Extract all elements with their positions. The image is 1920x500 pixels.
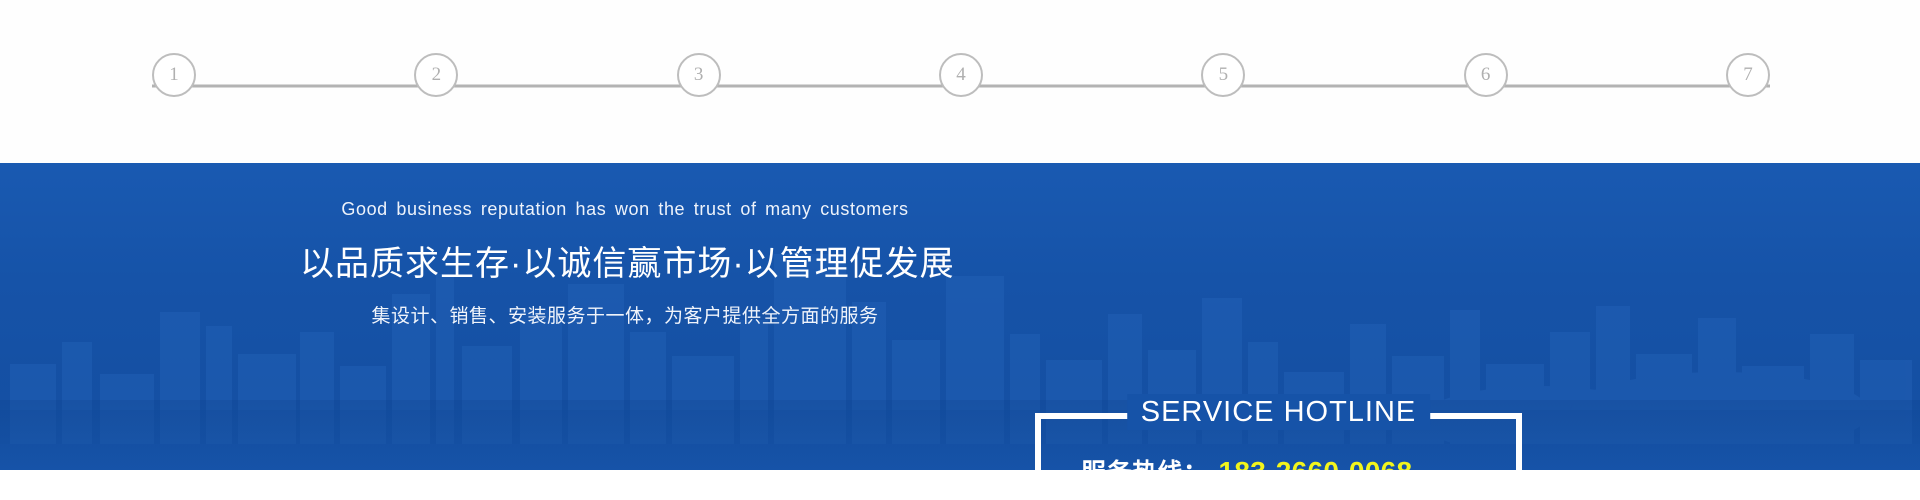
hotline-body: 服务热线： 183-2660-0068 0551-63749777	[1035, 453, 1522, 470]
banner-gradient-overlay	[0, 163, 1920, 470]
step-node-1[interactable]: 1	[152, 53, 196, 97]
step-node-label: 3	[679, 55, 719, 95]
slogan-chinese-headline: 以品质求生存·以诚信赢市场·以管理促发展	[300, 236, 950, 285]
step-node-2[interactable]: 2	[414, 53, 458, 97]
service-hotline-box: SERVICE HOTLINE 服务热线： 183-2660-0068 0551…	[1035, 413, 1522, 470]
step-node-label: 6	[1466, 55, 1506, 95]
hotline-label: 服务热线：	[1081, 453, 1209, 470]
hotline-row-primary: 服务热线： 183-2660-0068	[1081, 453, 1522, 470]
page-root: 1 2 3 4 5 6 7	[0, 0, 1920, 500]
step-node-6[interactable]: 6	[1464, 53, 1508, 97]
slogan-block: Good business reputation has won the tru…	[300, 199, 950, 328]
step-node-label: 4	[941, 55, 981, 95]
slogan-english-line: Good business reputation has won the tru…	[300, 199, 950, 220]
step-node-label: 2	[416, 55, 456, 95]
step-node-7[interactable]: 7	[1726, 53, 1770, 97]
step-node-label: 5	[1203, 55, 1243, 95]
step-node-3[interactable]: 3	[677, 53, 721, 97]
road-overlay	[0, 400, 1920, 470]
step-node-5[interactable]: 5	[1201, 53, 1245, 97]
step-node-label: 7	[1728, 55, 1768, 95]
step-node-label: 1	[154, 55, 194, 95]
city-skyline-illustration	[0, 214, 1920, 444]
promo-banner: Good business reputation has won the tru…	[0, 163, 1920, 470]
step-progress-bar: 1 2 3 4 5 6 7	[0, 0, 1920, 163]
step-node-4[interactable]: 4	[939, 53, 983, 97]
hotline-title: SERVICE HOTLINE	[1127, 394, 1431, 430]
slogan-chinese-subtitle: 集设计、销售、安装服务于一体，为客户提供全方面的服务	[300, 301, 950, 328]
hotline-number-primary[interactable]: 183-2660-0068	[1219, 456, 1413, 470]
